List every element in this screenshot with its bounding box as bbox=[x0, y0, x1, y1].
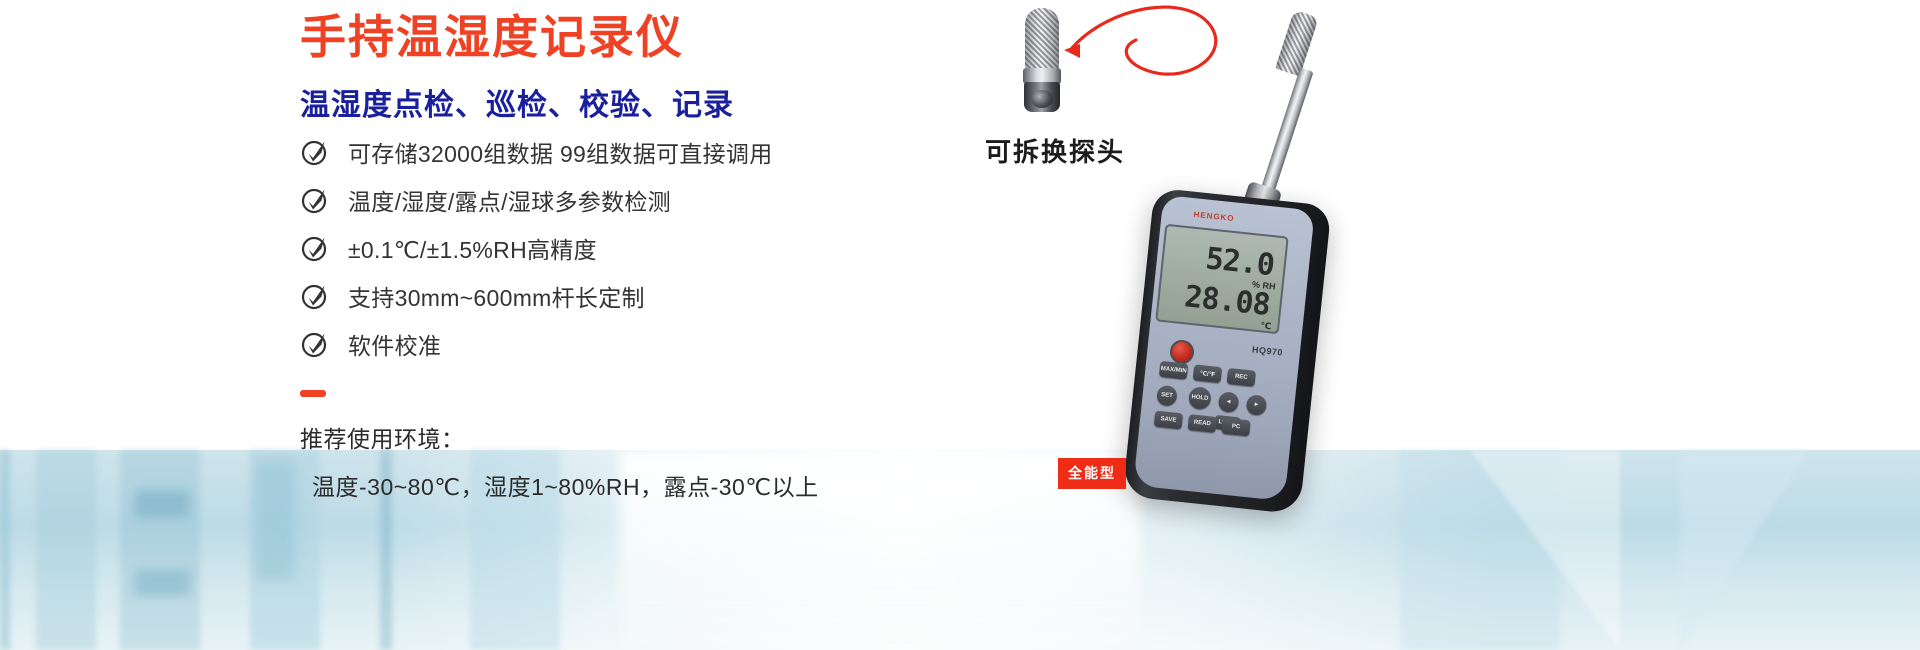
glass-triangle-left bbox=[1470, 450, 1620, 650]
key-left[interactable]: ◄ bbox=[1218, 391, 1240, 413]
check-circle-icon bbox=[300, 185, 330, 215]
check-circle-icon bbox=[300, 233, 330, 263]
environment-title: 推荐使用环境： bbox=[300, 420, 819, 454]
probe-sensor-tip bbox=[1275, 10, 1319, 77]
list-item: 温度/湿度/露点/湿球多参数检测 bbox=[300, 178, 773, 222]
check-circle-icon bbox=[300, 329, 330, 359]
list-item: 软件校准 bbox=[300, 322, 773, 366]
lcd-display: 52.0 % RH 28.08 ℃ bbox=[1155, 224, 1289, 334]
device-keypad: MAX/MIN ℃/℉ REC HOLD SET ◄ ► LIGHT SAVE … bbox=[1148, 360, 1306, 455]
key-read[interactable]: READ bbox=[1187, 414, 1217, 433]
key-pc[interactable]: PC bbox=[1221, 418, 1251, 437]
check-circle-icon bbox=[300, 137, 330, 167]
glass-triangle-right bbox=[1680, 450, 1810, 650]
list-item-label: ±0.1℃/±1.5%RH高精度 bbox=[348, 231, 597, 265]
lab-blur-detail-c bbox=[255, 460, 295, 580]
list-item: 支持30mm~600mm杆长定制 bbox=[300, 274, 773, 318]
key-max-min[interactable]: MAX/MIN bbox=[1159, 361, 1189, 380]
key-save[interactable]: SAVE bbox=[1154, 411, 1184, 430]
key-hold[interactable]: HOLD bbox=[1188, 386, 1212, 410]
environment-block: 推荐使用环境： 温度-30~80℃，湿度1~80%RH，露点-30℃以上 bbox=[300, 420, 819, 502]
product-banner: 手持温湿度记录仪 温湿度点检、巡检、校验、记录 可存储32000组数据 99组数… bbox=[0, 0, 1920, 650]
lab-blur-detail-b bbox=[135, 570, 190, 596]
list-item-label: 温度/湿度/露点/湿球多参数检测 bbox=[348, 183, 671, 217]
list-item-label: 支持30mm~600mm杆长定制 bbox=[348, 279, 645, 313]
key-set[interactable]: SET bbox=[1156, 385, 1178, 407]
check-circle-icon bbox=[300, 281, 330, 311]
environment-detail: 温度-30~80℃，湿度1~80%RH，露点-30℃以上 bbox=[312, 468, 819, 502]
page-title: 手持温湿度记录仪 bbox=[300, 13, 684, 63]
list-item-label: 可存储32000组数据 99组数据可直接调用 bbox=[348, 135, 773, 169]
list-item: ±0.1℃/±1.5%RH高精度 bbox=[300, 226, 773, 270]
temperature-reading: 28.08 bbox=[1183, 282, 1271, 321]
key-right[interactable]: ► bbox=[1245, 394, 1267, 416]
lab-blur-detail-a bbox=[135, 490, 190, 518]
key-rec[interactable]: REC bbox=[1227, 368, 1257, 387]
temperature-unit: ℃ bbox=[1260, 320, 1272, 332]
section-divider-dash bbox=[300, 390, 326, 397]
lab-background-panel bbox=[0, 450, 1920, 650]
page-subtitle: 温湿度点检、巡检、校验、记录 bbox=[300, 80, 734, 124]
feature-list: 可存储32000组数据 99组数据可直接调用 温度/湿度/露点/湿球多参数检测 bbox=[300, 130, 773, 370]
key-unit[interactable]: ℃/℉ bbox=[1193, 364, 1223, 383]
status-badge: 全能型 bbox=[1058, 458, 1126, 489]
humidity-reading: 52.0 bbox=[1204, 244, 1275, 281]
list-item-label: 软件校准 bbox=[348, 327, 441, 361]
list-item: 可存储32000组数据 99组数据可直接调用 bbox=[300, 130, 773, 174]
